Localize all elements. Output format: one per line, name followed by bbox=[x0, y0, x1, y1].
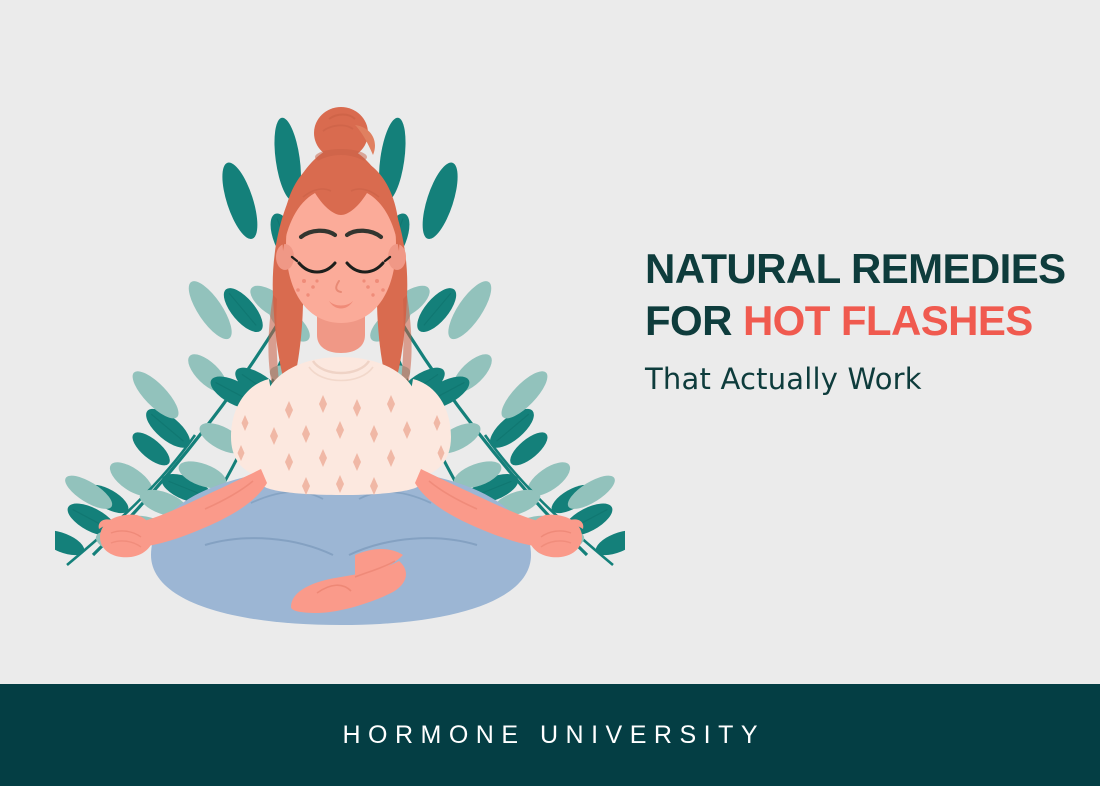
headline-line-2: FOR HOT FLASHES bbox=[645, 295, 1065, 347]
poster-canvas: NATURAL REMEDIES FOR HOT FLASHES That Ac… bbox=[0, 0, 1100, 786]
headline-accent-hot-flashes: HOT FLASHES bbox=[743, 297, 1033, 344]
footer-band: HORMONE UNIVERSITY bbox=[0, 684, 1100, 786]
headline-block: NATURAL REMEDIES FOR HOT FLASHES That Ac… bbox=[645, 243, 1065, 399]
brand-wordmark: HORMONE UNIVERSITY bbox=[335, 721, 765, 750]
subheadline: That Actually Work bbox=[645, 359, 1065, 399]
meditating-woman bbox=[99, 107, 584, 625]
hand-right bbox=[529, 515, 584, 558]
headline-line-2-prefix: FOR bbox=[645, 297, 743, 344]
hand-left bbox=[99, 515, 154, 558]
meditation-illustration bbox=[55, 85, 625, 630]
headline-line-1: NATURAL REMEDIES bbox=[645, 243, 1065, 295]
